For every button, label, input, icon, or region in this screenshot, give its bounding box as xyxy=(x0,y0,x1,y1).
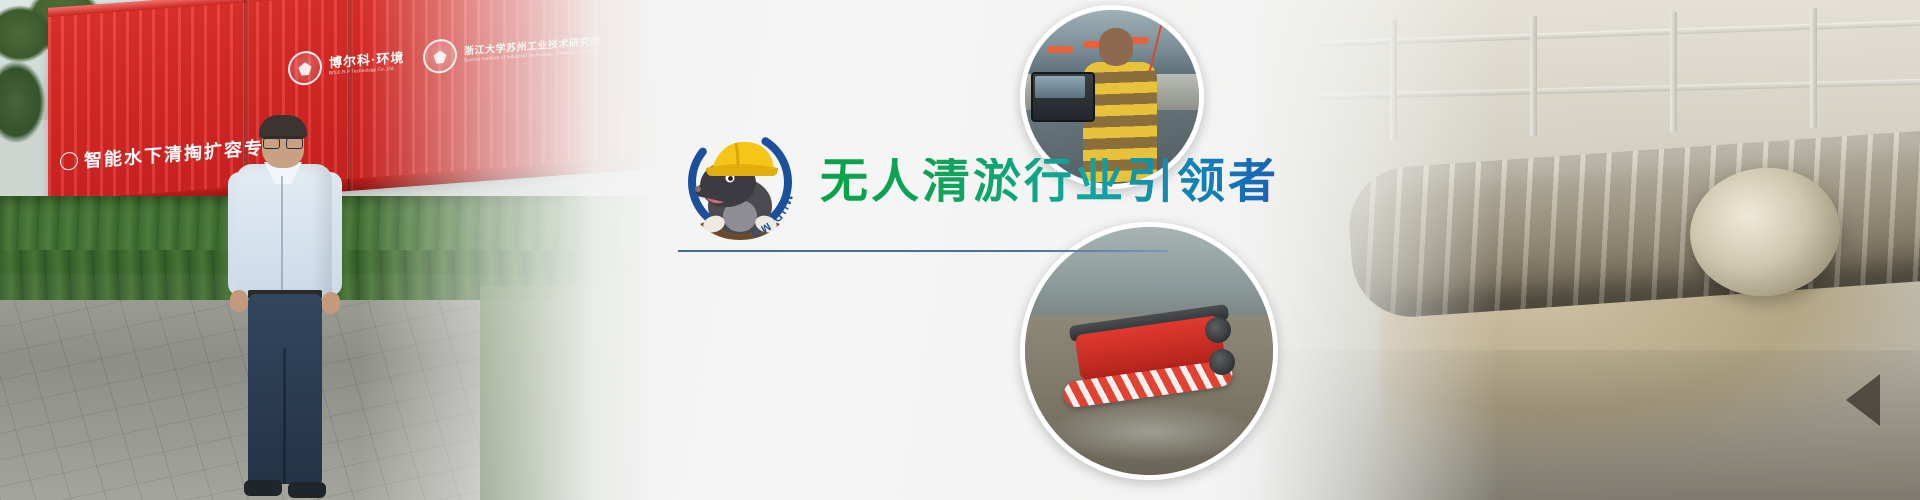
slogan-bullet-icon xyxy=(60,151,78,170)
glasses-icon xyxy=(263,136,303,147)
person-engineer xyxy=(230,118,340,500)
center-content: MUD MOLE 无人清淤行业引领者 xyxy=(660,0,1280,500)
right-photo xyxy=(1200,0,1920,500)
rail-post xyxy=(1670,12,1677,132)
person-shirt-placket xyxy=(281,176,283,294)
brand-row: MUD MOLE 无人清淤行业引领者 xyxy=(678,120,1279,244)
rail-post xyxy=(1810,8,1817,128)
brand-seal-icon xyxy=(288,50,322,86)
mud-mole-logo: MUD MOLE xyxy=(678,120,802,244)
person-left-hand xyxy=(230,290,248,312)
person-left-shoe xyxy=(244,480,282,496)
page-title: 无人清淤行业引领者 xyxy=(820,158,1279,206)
title-divider xyxy=(678,250,1168,252)
person-shirt xyxy=(236,164,332,300)
left-photo-fade xyxy=(360,0,660,500)
flow-arrow-icon xyxy=(1846,374,1880,426)
hero-banner: 博尔科·环境 BO.E.R.P Technology Co.,Ltd. 浙江大学… xyxy=(0,0,1920,500)
rail-post xyxy=(1530,16,1537,136)
person-right-hand xyxy=(322,292,340,314)
left-photo: 博尔科·环境 BO.E.R.P Technology Co.,Ltd. 浙江大学… xyxy=(0,0,660,500)
person-leg-split xyxy=(283,348,286,484)
container-seam xyxy=(348,0,353,191)
person-right-shoe xyxy=(288,482,326,498)
